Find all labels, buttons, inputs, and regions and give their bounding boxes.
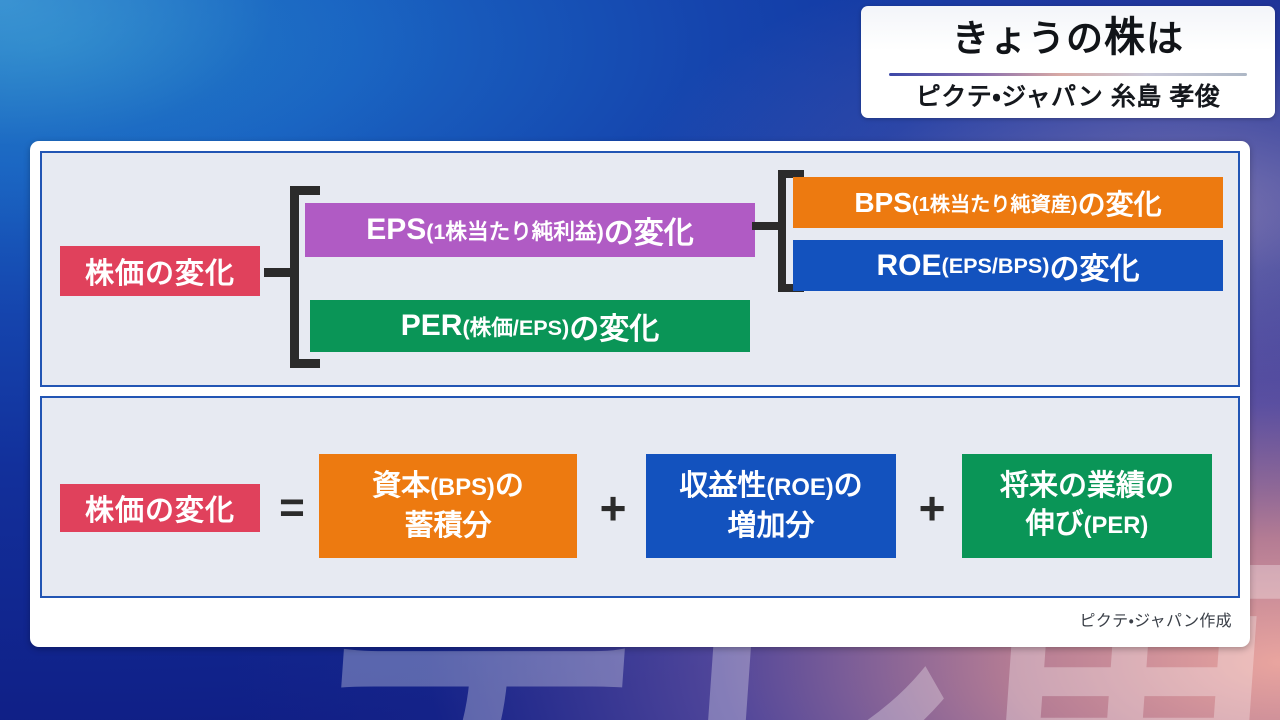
plus-operator-2: +: [911, 484, 953, 532]
box-capital-line2: 蓄積分: [404, 510, 491, 542]
box-future-line2-main: 伸び: [1026, 508, 1084, 540]
box-per-change: PER(株価/EPS)の変化: [310, 300, 750, 352]
bracket-spine: [290, 186, 299, 368]
title-divider: [889, 73, 1247, 76]
box-future-earnings-growth: 将来の業績の 伸び(PER): [962, 454, 1212, 558]
box-future-lines: 将来の業績の 伸び(PER): [1000, 467, 1174, 545]
label-stock-price-change-bottom: 株価の変化: [60, 484, 260, 532]
box-per-suffix: の変化: [569, 304, 659, 348]
box-bps-main: BPS: [854, 187, 912, 219]
plus-operator-1: +: [592, 484, 634, 532]
bracket-arm: [264, 268, 292, 277]
bracket-top-tip: [290, 186, 320, 195]
box-profitability-increase: 収益性(ROE)の 増加分: [646, 454, 896, 558]
bracket-bottom-tip: [290, 359, 320, 368]
box-capital-lines: 資本(BPS)の 蓄積分: [372, 467, 524, 545]
page-title: きょうの株は: [861, 13, 1275, 63]
box-roe-paren: (EPS/BPS): [942, 253, 1050, 279]
box-future-line2-paren: (PER): [1084, 512, 1149, 539]
page-title-main: きょうの: [952, 18, 1104, 59]
box-eps-change: EPS(1株当たり純利益)の変化: [305, 203, 755, 257]
program-title-plate: きょうの株は ピクテ・ジャパン 糸島 孝俊: [861, 6, 1275, 118]
box-roe-main: ROE: [876, 249, 941, 283]
box-roe-change: ROE(EPS/BPS)の変化: [793, 240, 1223, 291]
box-profitability-suffix: の: [834, 470, 863, 502]
page-title-tail: は: [1146, 18, 1184, 59]
box-bps-change: BPS(1株当たり純資産)の変化: [793, 177, 1223, 228]
box-profitability-lines: 収益性(ROE)の 増加分: [679, 467, 862, 545]
box-bps-paren: (1株当たり純資産): [912, 188, 1078, 217]
box-eps-suffix: の変化: [604, 208, 694, 252]
bracket-arm: [752, 222, 780, 230]
page-title-keyword: 株: [1104, 14, 1146, 60]
box-profitability-main: 収益性: [679, 470, 766, 502]
label-text: 株価の変化: [85, 250, 235, 292]
box-capital-paren: (BPS): [430, 474, 495, 501]
equals-operator: =: [268, 484, 316, 532]
box-bps-suffix: の変化: [1078, 183, 1162, 223]
box-roe-suffix: の変化: [1050, 244, 1140, 288]
source-credit: ピクテ・ジャパン作成: [1080, 607, 1232, 631]
box-capital-main: 資本: [372, 470, 430, 502]
box-eps-paren: (1株当たり純利益): [426, 215, 604, 246]
box-future-line1: 将来の業績の: [1000, 470, 1174, 502]
box-capital-accumulation: 資本(BPS)の 蓄積分: [319, 454, 577, 558]
box-per-main: PER: [401, 309, 463, 343]
presenter-name: ピクテ・ジャパン 糸島 孝俊: [861, 80, 1275, 114]
label-stock-price-change-top: 株価の変化: [60, 246, 260, 296]
label-text: 株価の変化: [85, 487, 235, 529]
box-capital-suffix: の: [495, 470, 524, 502]
bracket-spine: [778, 170, 786, 292]
box-per-paren: (株価/EPS): [462, 311, 569, 342]
box-profitability-line2: 増加分: [727, 510, 814, 542]
box-profitability-paren: (ROE): [766, 474, 833, 501]
box-eps-main: EPS: [366, 213, 426, 247]
